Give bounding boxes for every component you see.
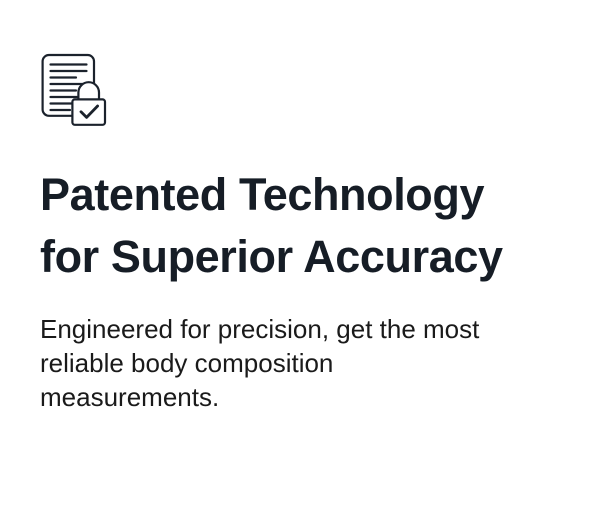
document-lock-verified-icon <box>40 53 114 128</box>
feature-card: Patented Technology for Superior Accurac… <box>0 0 600 516</box>
page-title: Patented Technology for Superior Accurac… <box>40 164 540 288</box>
feature-description: Engineered for precision, get the most r… <box>40 312 500 414</box>
